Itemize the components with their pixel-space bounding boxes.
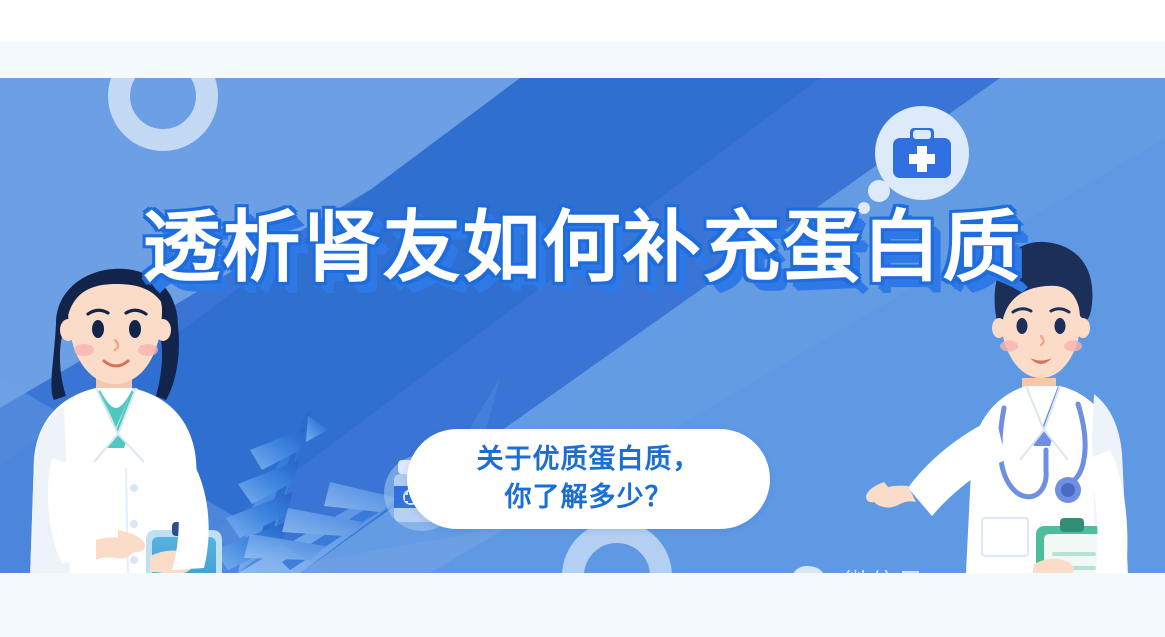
page-root: 透析肾友如何补充蛋白质 关于优质蛋白质， 你了解多少？ 微信号: xueyeji…: [0, 0, 1165, 637]
article-banner-image: 透析肾友如何补充蛋白质 关于优质蛋白质， 你了解多少？ 微信号: xueyeji…: [0, 78, 1165, 573]
banner-subtitle-pill: 关于优质蛋白质， 你了解多少？: [407, 429, 770, 529]
top-tint-strip: [0, 42, 1165, 78]
wechat-id-text: 微信号: xueyejinghua: [843, 562, 1124, 573]
subtitle-line-1: 关于优质蛋白质，: [477, 441, 701, 479]
wechat-watermark: 微信号: xueyejinghua: [792, 562, 1124, 573]
bottom-tint-strip: [0, 573, 1165, 637]
subtitle-line-2: 你了解多少？: [505, 479, 673, 517]
top-white-strip: [0, 0, 1165, 42]
wechat-logo-icon: [792, 565, 834, 574]
